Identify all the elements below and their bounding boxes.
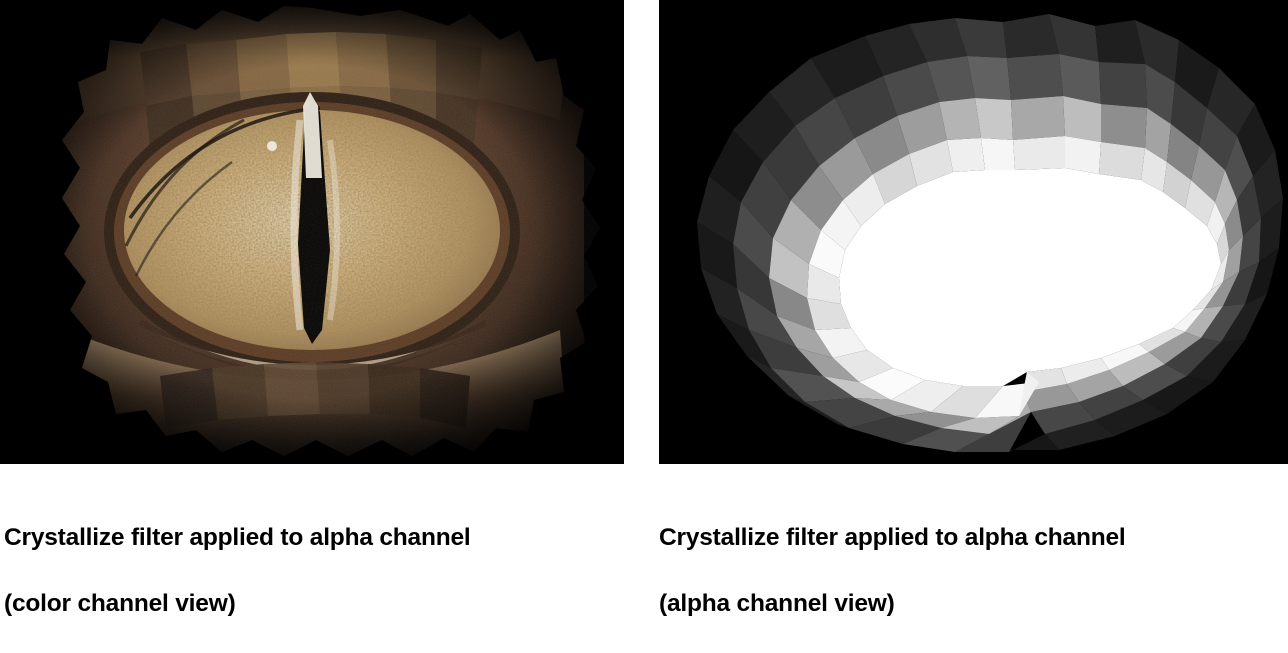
caption-color-channel-view: Crystallize filter applied to alpha chan… <box>4 488 624 653</box>
caption-left-line2: (color channel view) <box>4 587 624 620</box>
panel-color-channel-view <box>0 0 624 464</box>
vignette <box>0 0 624 464</box>
crystallized-eye-alpha-image <box>659 0 1288 464</box>
panel-alpha-channel-view <box>659 0 1288 464</box>
crystallized-eye-color-image <box>0 0 624 464</box>
caption-alpha-channel-view: Crystallize filter applied to alpha chan… <box>659 488 1284 653</box>
caption-left-line1: Crystallize filter applied to alpha chan… <box>4 521 624 554</box>
caption-right-line1: Crystallize filter applied to alpha chan… <box>659 521 1284 554</box>
caption-right-line2: (alpha channel view) <box>659 587 1284 620</box>
comparison-figure: Crystallize filter applied to alpha chan… <box>0 0 1288 570</box>
